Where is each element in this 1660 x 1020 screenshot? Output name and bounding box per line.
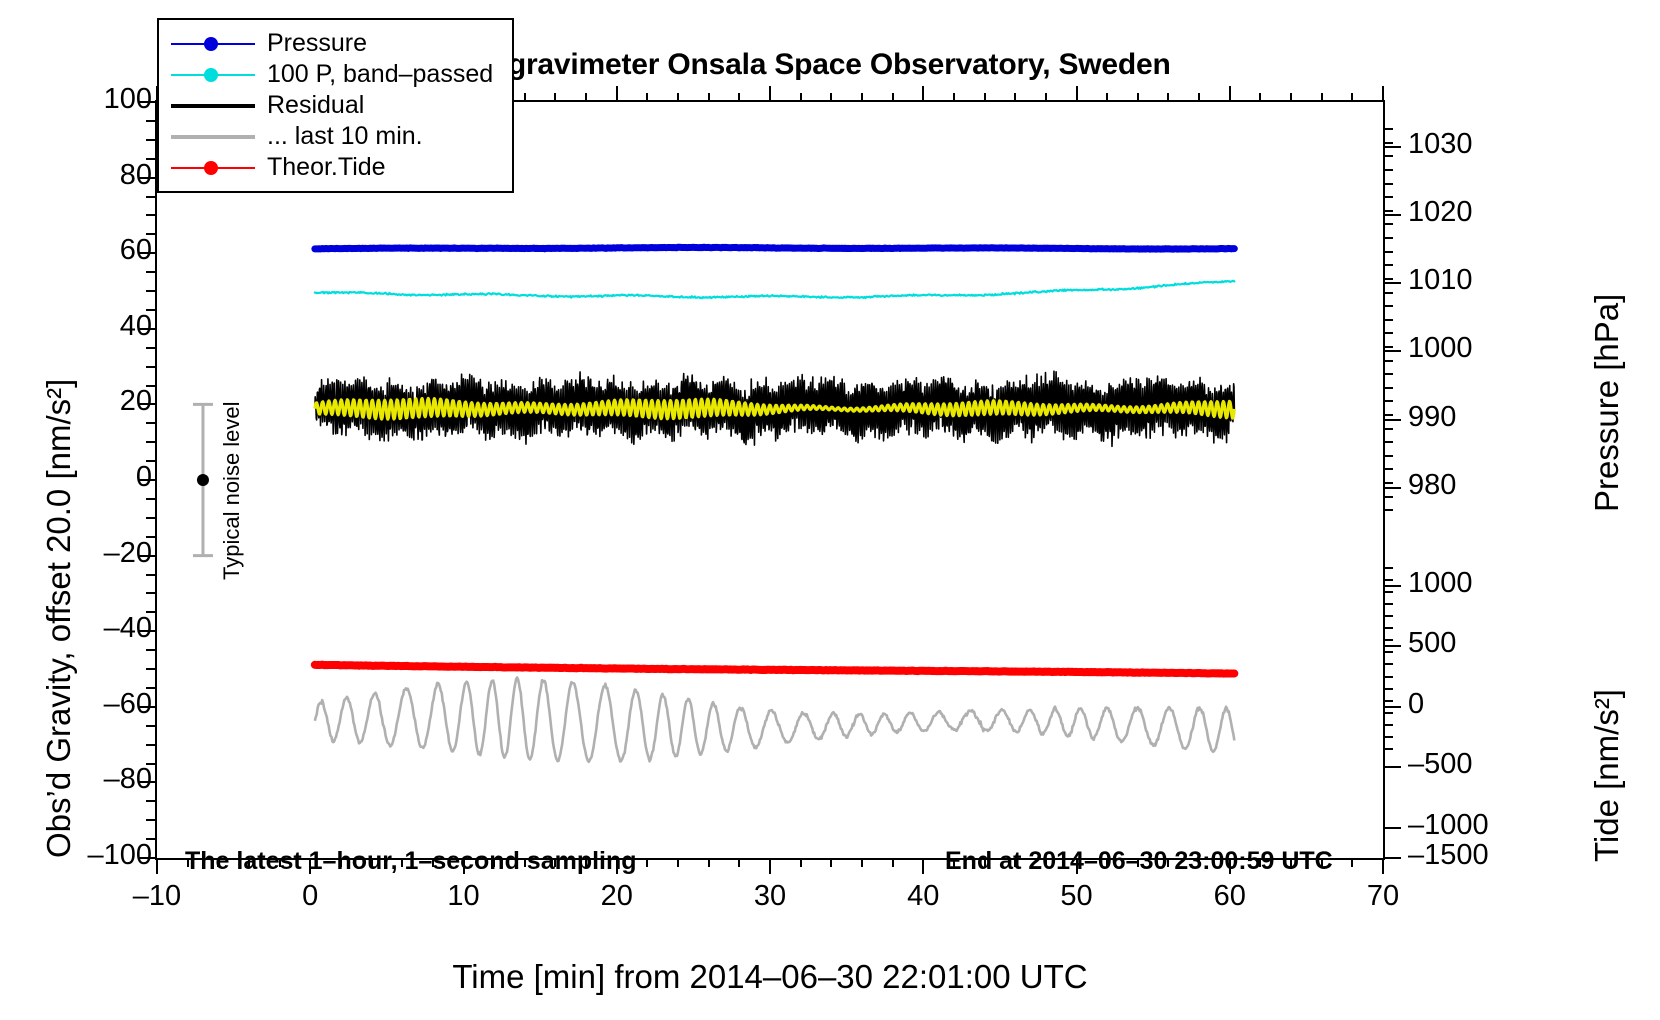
legend-item-0[interactable]: Pressure bbox=[159, 28, 512, 59]
legend-item-2[interactable]: Residual bbox=[159, 90, 512, 121]
y-tick-pressure-major bbox=[1383, 282, 1401, 284]
y-tick-left-label: 60 bbox=[0, 234, 152, 267]
x-tick-label: 70 bbox=[1323, 880, 1443, 913]
y-tick-tide-major bbox=[1383, 585, 1401, 587]
series-pressure bbox=[315, 247, 1235, 249]
chart-root: SCG_054 gravimeter Onsala Space Observat… bbox=[0, 0, 1660, 1020]
y-tick-tide-major bbox=[1383, 857, 1401, 859]
errorbar-center-dot bbox=[197, 474, 209, 486]
y-tick-pressure-label: 1000 bbox=[1408, 332, 1473, 365]
x-tick-label: 40 bbox=[863, 880, 983, 913]
x-tick-major bbox=[156, 858, 158, 874]
y-tick-left-label: 100 bbox=[0, 83, 152, 116]
x-tick-label: 0 bbox=[250, 880, 370, 913]
y-tick-tide-major bbox=[1383, 766, 1401, 768]
y-tick-pressure-major bbox=[1383, 419, 1401, 421]
y-tick-tide-major bbox=[1383, 827, 1401, 829]
y-tick-tide-label: 0 bbox=[1408, 688, 1424, 721]
chart-legend: Pressure100 P, band–passedResidual... la… bbox=[157, 18, 514, 193]
y-tick-pressure-label: 1010 bbox=[1408, 264, 1473, 297]
legend-line-icon bbox=[171, 135, 255, 139]
series-theoretical-tide bbox=[315, 665, 1235, 674]
plot-canvas bbox=[157, 102, 1383, 858]
y-tick-pressure-label: 1020 bbox=[1408, 196, 1473, 229]
typical-noise-level-errorbar bbox=[193, 404, 213, 555]
legend-line-icon bbox=[171, 104, 255, 108]
series-pressure-bandpassed bbox=[315, 281, 1235, 299]
y-tick-left-label: –60 bbox=[0, 688, 152, 721]
y-tick-left-label: 20 bbox=[0, 385, 152, 418]
legend-item-label: Theor.Tide bbox=[267, 155, 386, 180]
x-axis-title: Time [min] from 2014–06–30 22:01:00 UTC bbox=[155, 958, 1385, 996]
legend-item-label: ... last 10 min. bbox=[267, 124, 423, 149]
y-tick-tide-label: –1500 bbox=[1408, 839, 1489, 872]
legend-swatch-icon bbox=[171, 65, 255, 85]
y-tick-tide-label: –500 bbox=[1408, 748, 1473, 781]
legend-item-4[interactable]: Theor.Tide bbox=[159, 152, 512, 183]
legend-swatch-icon bbox=[171, 96, 255, 116]
y-tick-pressure-label: 980 bbox=[1408, 469, 1456, 502]
y-tick-pressure-major bbox=[1383, 146, 1401, 148]
x-tick-label: –10 bbox=[97, 880, 217, 913]
legend-marker-icon bbox=[204, 68, 218, 82]
y-tick-pressure-major bbox=[1383, 487, 1401, 489]
y-tick-tide-major bbox=[1383, 706, 1401, 708]
y-tick-pressure-label: 990 bbox=[1408, 401, 1456, 434]
y-tick-pressure-label: 1030 bbox=[1408, 128, 1473, 161]
legend-swatch-icon bbox=[171, 158, 255, 178]
series-last-10-min bbox=[315, 678, 1235, 762]
y-tick-pressure-major bbox=[1383, 214, 1401, 216]
y-tick-tide-label: –1000 bbox=[1408, 809, 1489, 842]
x-tick-label: 60 bbox=[1170, 880, 1290, 913]
y-tick-tide-label: 1000 bbox=[1408, 567, 1473, 600]
x-tick-label: 30 bbox=[710, 880, 830, 913]
y-tick-left-label: –80 bbox=[0, 763, 152, 796]
y-tick-tide-major bbox=[1383, 645, 1401, 647]
legend-item-label: Pressure bbox=[267, 31, 367, 56]
x-tick-major bbox=[1382, 858, 1384, 874]
y-axis-tide-title: Tide [nm/s²] bbox=[1588, 689, 1626, 862]
y-tick-tide-label: 500 bbox=[1408, 627, 1456, 660]
legend-swatch-icon bbox=[171, 34, 255, 54]
x-tick-label: 50 bbox=[1017, 880, 1137, 913]
end-time-note: End at 2014–06–30 23:00:59 UTC bbox=[945, 847, 1333, 876]
y-tick-left-label: 40 bbox=[0, 310, 152, 343]
typical-noise-level-label: Typical noise level bbox=[219, 401, 245, 580]
y-tick-left-label: –100 bbox=[0, 839, 152, 872]
x-tick-major bbox=[769, 858, 771, 874]
legend-item-1[interactable]: 100 P, band–passed bbox=[159, 59, 512, 90]
legend-marker-icon bbox=[204, 161, 218, 175]
y-tick-left-label: 80 bbox=[0, 159, 152, 192]
legend-swatch-icon bbox=[171, 127, 255, 147]
y-tick-left-label: 0 bbox=[0, 461, 152, 494]
y-tick-pressure-major bbox=[1383, 350, 1401, 352]
x-tick-major bbox=[922, 858, 924, 874]
x-tick-label: 20 bbox=[557, 880, 677, 913]
legend-item-3[interactable]: ... last 10 min. bbox=[159, 121, 512, 152]
x-tick-label: 10 bbox=[404, 880, 524, 913]
y-axis-pressure-title: Pressure [hPa] bbox=[1588, 294, 1626, 512]
legend-item-label: 100 P, band–passed bbox=[267, 62, 493, 87]
plot-area: The latest 1–hour, 1–second sampling End… bbox=[155, 100, 1385, 860]
sampling-note: The latest 1–hour, 1–second sampling bbox=[185, 847, 637, 876]
legend-item-label: Residual bbox=[267, 93, 364, 118]
y-tick-left-label: –40 bbox=[0, 612, 152, 645]
y-tick-left-label: –20 bbox=[0, 537, 152, 570]
legend-marker-icon bbox=[204, 37, 218, 51]
